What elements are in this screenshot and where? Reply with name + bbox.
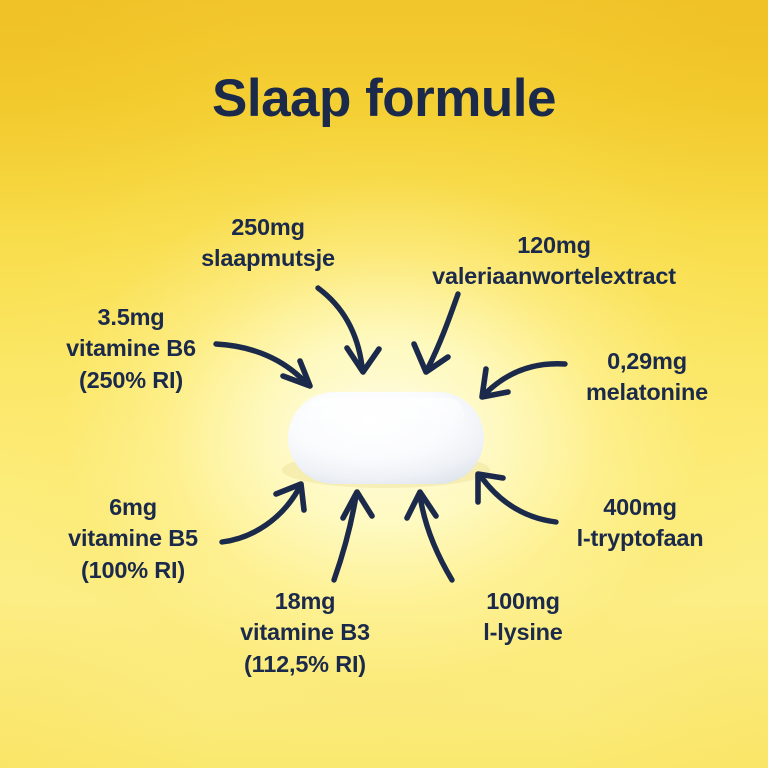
- ingredient-label-vitamine-b6: 3.5mg vitamine B6 (250% RI): [22, 302, 240, 396]
- ingredient-label-slaapmutsje: 250mg slaapmutsje: [158, 212, 378, 275]
- ingredient-label-valeriaanwortelextract: 120mg valeriaanwortelextract: [384, 230, 724, 293]
- arrow-to-valeriaanwortelextract: [414, 294, 458, 372]
- ingredient-label-vitamine-b3: 18mg vitamine B3 (112,5% RI): [196, 586, 414, 680]
- arrow-to-vitamine-b3: [334, 492, 372, 580]
- ingredient-label-melatonine: 0,29mg melatonine: [548, 346, 746, 409]
- ingredient-label-vitamine-b5: 6mg vitamine B5 (100% RI): [28, 492, 238, 586]
- arrow-to-slaapmutsje: [318, 288, 379, 372]
- sleep-formula-infographic: Slaap formule: [0, 0, 768, 768]
- ingredient-label-l-lysine: 100mg l-lysine: [438, 586, 608, 649]
- arrow-to-l-lysine: [407, 492, 452, 580]
- ingredient-label-l-tryptofaan: 400mg l-tryptofaan: [540, 492, 740, 555]
